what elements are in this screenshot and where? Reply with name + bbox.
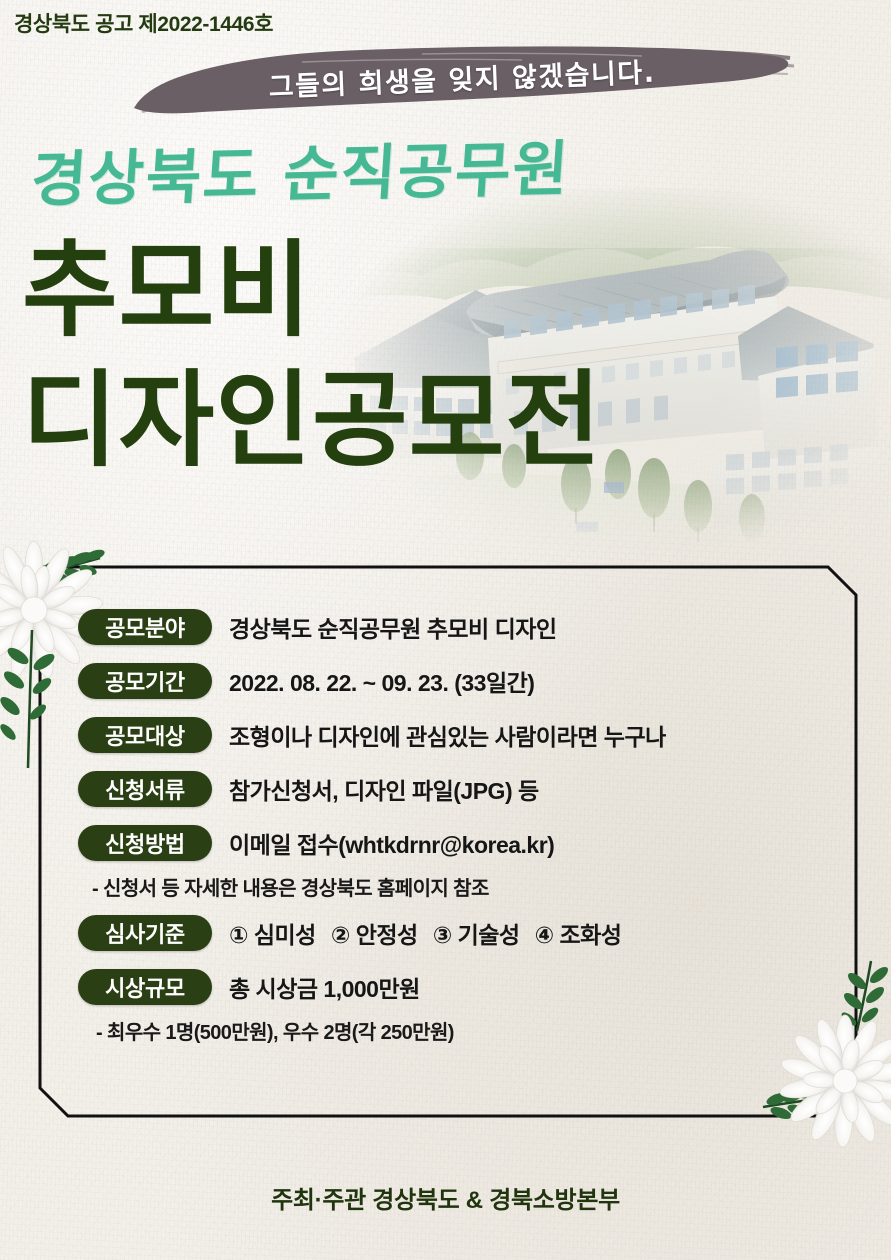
poster-title-line-1: 추모비 — [22, 238, 312, 342]
info-rows-container: 공모분야 경상북도 순직공무원 추모비 디자인 공모기간 2022. 08. 2… — [78, 600, 868, 1050]
label-pill-eligibility: 공모대상 — [78, 717, 212, 753]
criteria-item-2: ② 안정성 — [331, 916, 418, 950]
value-field: 경상북도 순직공무원 추모비 디자인 — [229, 610, 557, 644]
info-row-field: 공모분야 경상북도 순직공무원 추모비 디자인 — [78, 600, 868, 654]
value-method-email[interactable]: 이메일 접수(whtkdrnr@korea.kr) — [229, 826, 554, 860]
criteria-item-3: ③ 기술성 — [433, 916, 520, 950]
brush-stroke-banner: 그들의 희생을 잊지 않겠습니다. — [122, 38, 802, 116]
apply-note: - 신청서 등 자세한 내용은 경상북도 홈페이지 참조 — [92, 866, 868, 906]
value-eligibility: 조형이나 디자인에 관심있는 사람이라면 누구나 — [229, 718, 666, 752]
footer-hosts: 주최·주관 경상북도 & 경북소방본부 — [0, 1180, 891, 1215]
label-pill-criteria: 심사기준 — [78, 915, 212, 951]
value-prize: 총 시상금 1,000만원 — [229, 970, 420, 1004]
info-row-documents: 신청서류 참가신청서, 디자인 파일(JPG) 등 — [78, 762, 868, 816]
label-pill-documents: 신청서류 — [78, 771, 212, 807]
info-row-period: 공모기간 2022. 08. 22. ~ 09. 23. (33일간) — [78, 654, 868, 708]
label-pill-prize: 시상규모 — [78, 969, 212, 1005]
value-period: 2022. 08. 22. ~ 09. 23. (33일간) — [229, 664, 534, 698]
poster-subtitle: 경상북도 순직공무원 — [29, 120, 573, 218]
label-pill-field: 공모분야 — [78, 609, 212, 645]
criteria-item-1: ① 심미성 — [229, 916, 316, 950]
value-documents: 참가신청서, 디자인 파일(JPG) 등 — [229, 772, 539, 806]
criteria-list: ① 심미성 ② 안정성 ③ 기술성 ④ 조화성 — [229, 916, 621, 950]
label-pill-method: 신청방법 — [78, 825, 212, 861]
label-pill-period: 공모기간 — [78, 663, 212, 699]
info-row-method: 신청방법 이메일 접수(whtkdrnr@korea.kr) — [78, 816, 868, 870]
info-row-eligibility: 공모대상 조형이나 디자인에 관심있는 사람이라면 누구나 — [78, 708, 868, 762]
poster-root: 경상북도 공고 제2022-1446호 그들의 희생을 잊지 않겠습니다. 경상… — [0, 0, 891, 1260]
prize-breakdown-note: - 최우수 1명(500만원), 우수 2명(각 250만원) — [96, 1010, 868, 1050]
notice-number: 경상북도 공고 제2022-1446호 — [14, 8, 273, 38]
info-row-prize: 시상규모 총 시상금 1,000만원 — [78, 960, 868, 1014]
info-row-criteria: 심사기준 ① 심미성 ② 안정성 ③ 기술성 ④ 조화성 — [78, 906, 868, 960]
poster-title-line-2: 디자인공모전 — [22, 368, 602, 472]
criteria-item-4: ④ 조화성 — [535, 916, 622, 950]
